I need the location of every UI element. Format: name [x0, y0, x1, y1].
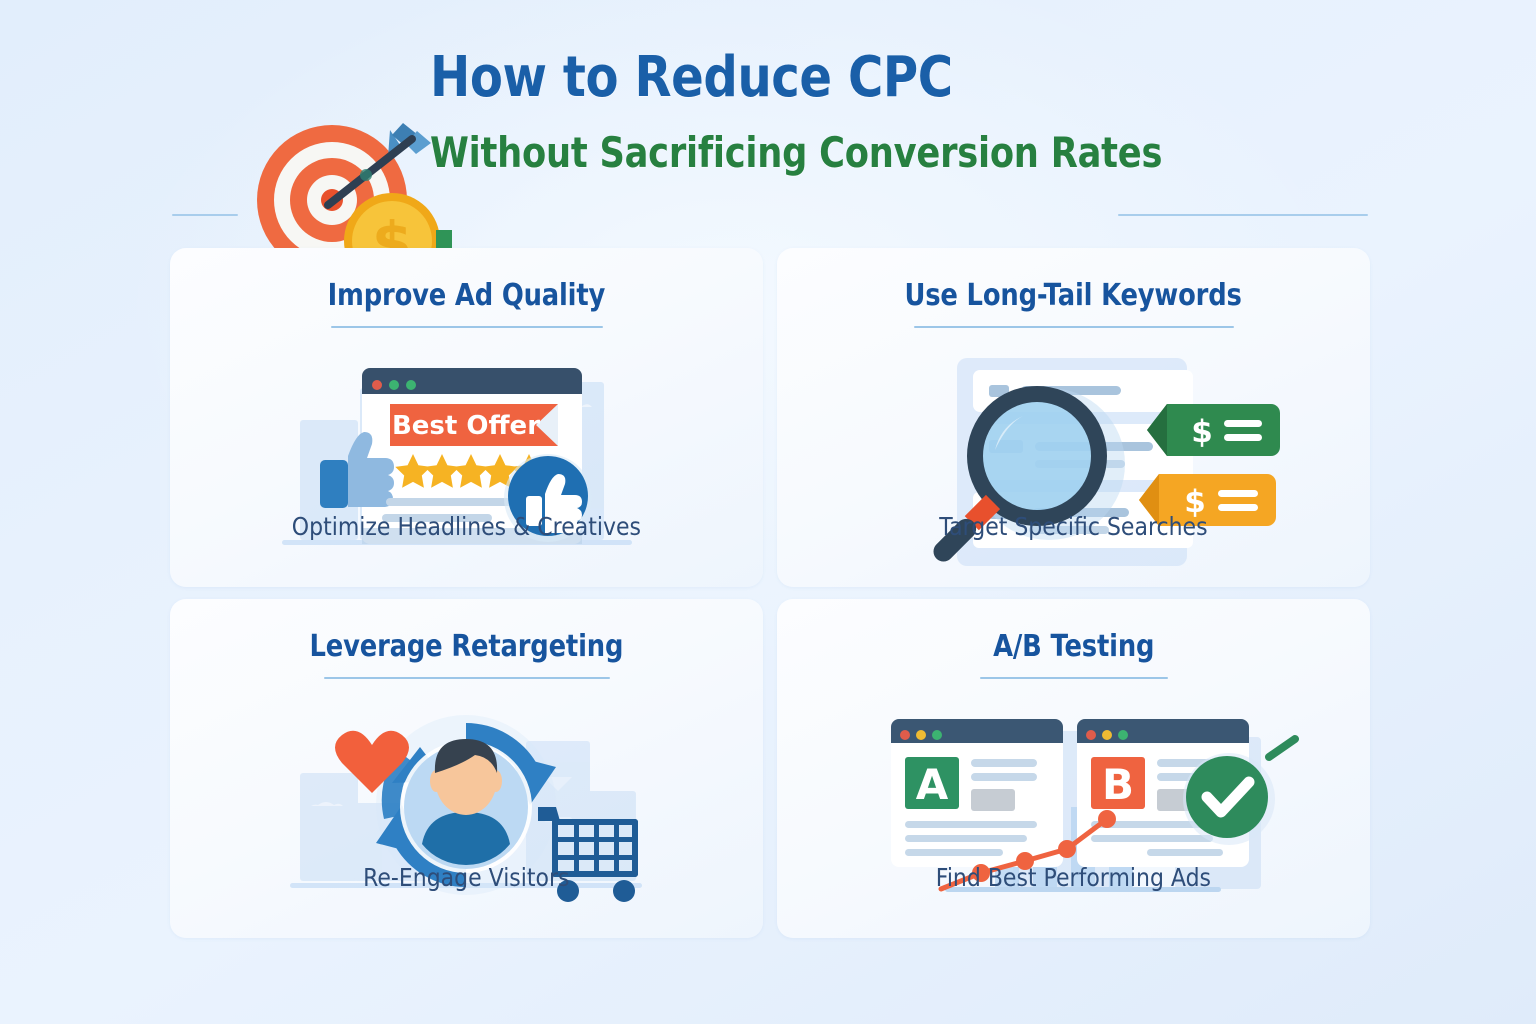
card-title: Use Long-Tail Keywords [777, 278, 1370, 313]
card-caption: Optimize Headlines & Creatives [170, 512, 763, 541]
tips-grid: Improve Ad Quality [170, 248, 1370, 938]
decorative-rule-right [1118, 214, 1368, 216]
header-titles: How to Reduce CPC Without Sacrificing Co… [430, 50, 1430, 174]
variant-a-label: A [916, 760, 949, 809]
card-title: A/B Testing [777, 629, 1370, 664]
card-title-underline [324, 677, 610, 679]
ab-testing-illustration: A B [777, 695, 1370, 931]
header: $ How to Reduce CPC Without Sacrificing … [0, 40, 1536, 250]
page-title: How to Reduce CPC [430, 50, 1290, 106]
decorative-rule-left [172, 214, 238, 216]
variant-b-label: B [1102, 760, 1134, 809]
card-title: Improve Ad Quality [170, 278, 763, 313]
ad-quality-illustration: Best Offer [170, 344, 763, 580]
card-title: Leverage Retargeting [170, 629, 763, 664]
svg-text:Best Offer: Best Offer [392, 411, 540, 441]
magnifier-search-illustration: $ $ [777, 344, 1370, 580]
card-use-long-tail-keywords[interactable]: Use Long-Tail Keywords [777, 248, 1370, 587]
card-caption: Find Best Performing Ads [777, 863, 1370, 892]
card-ab-testing[interactable]: A/B Testing [777, 599, 1370, 938]
card-title-underline [331, 326, 603, 328]
card-leverage-retargeting[interactable]: Leverage Retargeting [170, 599, 763, 938]
svg-text:$: $ [1191, 414, 1213, 450]
card-title-underline [914, 326, 1234, 328]
card-caption: Re-Engage Visitors [170, 863, 763, 892]
retargeting-cycle-illustration [170, 695, 763, 931]
card-improve-ad-quality[interactable]: Improve Ad Quality [170, 248, 763, 587]
card-title-underline [980, 677, 1168, 679]
card-caption: Target Specific Searches [777, 512, 1370, 541]
page-subtitle: Without Sacrificing Conversion Rates [430, 132, 1270, 174]
